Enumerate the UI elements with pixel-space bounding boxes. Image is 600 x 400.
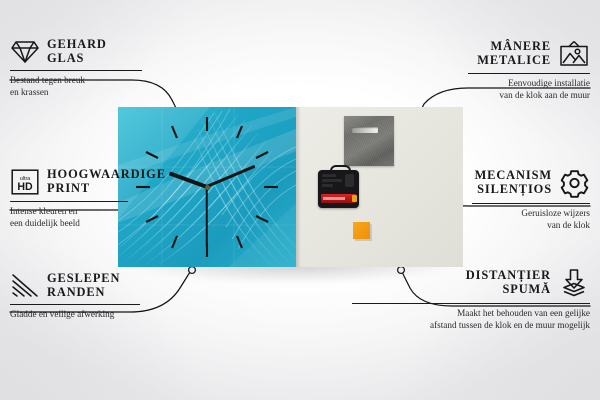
feature-desc-line2: en krassen [10, 87, 195, 98]
feature-desc-line2: van de klok [390, 220, 590, 231]
feature-desc-line2: een duidelijk beeld [10, 218, 210, 229]
feature-desc-line2: van de klok aan de muur [390, 90, 590, 101]
battery-label [323, 197, 345, 200]
feature-header: GEHARD GLAS [10, 38, 195, 65]
mechanism-dial [345, 174, 354, 187]
feature-title-line2: SILENȚIOS [477, 183, 552, 197]
metal-grain [344, 116, 394, 166]
feature-header: GESLEPEN RANDEN [10, 272, 210, 299]
feature-title-line1: MECANISM [475, 169, 552, 183]
wall-mount-picture-icon [558, 40, 590, 68]
feature-title-line1: HOOGWAARDIGE [47, 168, 166, 182]
feature-title: DISTANȚIER SPUMĂ [466, 269, 551, 296]
infographic-canvas: GEHARD GLAS Bestand tegen breuk en krass… [0, 0, 600, 400]
feature-title-line2: SPUMĂ [502, 283, 551, 297]
battery [321, 194, 356, 203]
feature-title: MÂNERE METALICE [477, 40, 551, 67]
feature-desc-line2: afstand tussen de klok en de muur mogeli… [330, 320, 590, 331]
metal-hanger-plate [344, 116, 394, 166]
feature-title: GESLEPEN RANDEN [47, 272, 120, 299]
ultra-hd-icon: ultra HD [10, 168, 40, 196]
feature-gehard-glas: GEHARD GLAS Bestand tegen breuk en krass… [10, 38, 195, 98]
feature-distantier-spuma: DISTANȚIER SPUMĂ Maakt het behouden van … [330, 268, 590, 331]
feature-desc-line1: Eenvoudige installatie [390, 78, 590, 89]
mechanism-slot [322, 179, 342, 182]
feature-title: MECANISM SILENȚIOS [475, 169, 552, 196]
feature-title: GEHARD GLAS [47, 38, 107, 65]
feature-title-line2: PRINT [47, 182, 166, 196]
feature-manere-metalice: MÂNERE METALICE Eenvoudige installatie v… [390, 40, 590, 101]
clock-mechanism [318, 165, 359, 208]
feature-title-line2: METALICE [477, 54, 551, 68]
hanger-keyhole-slot [352, 127, 378, 133]
feature-title-line1: GEHARD [47, 38, 107, 52]
feature-rule [10, 304, 140, 305]
diamond-icon [10, 38, 40, 65]
gear-icon [559, 168, 590, 198]
foam-spacer-arrow-icon [558, 268, 590, 298]
feature-title-line1: MÂNERE [491, 40, 551, 54]
feature-desc-line1: Gladde en veilige afwerking [10, 309, 210, 320]
feature-rule [10, 201, 128, 202]
battery-terminal [352, 195, 357, 202]
feature-header: ultra HD HOOGWAARDIGE PRINT [10, 168, 210, 196]
feature-title-line1: GESLEPEN [47, 272, 120, 286]
feature-rule [352, 303, 590, 304]
feature-header: MÂNERE METALICE [390, 40, 590, 68]
foam-spacer [353, 222, 370, 239]
feature-rule [468, 73, 590, 74]
feature-desc-line1: Intense kleuren en [10, 206, 210, 217]
feature-geslepen-randen: GESLEPEN RANDEN Gladde en veilige afwerk… [10, 272, 210, 321]
mechanism-slot [322, 184, 333, 187]
beveled-edge-icon [10, 272, 40, 299]
ultra-hd-icon-main-label: HD [17, 181, 33, 193]
feature-header: MECANISM SILENȚIOS [390, 168, 590, 198]
feature-header: DISTANȚIER SPUMĂ [330, 268, 590, 298]
feature-desc-line1: Maakt het behouden van een gelijke [330, 308, 590, 319]
feature-desc-line1: Geruisloze wijzers [390, 208, 590, 219]
mechanism-body [318, 170, 359, 208]
feature-desc-line1: Bestand tegen breuk [10, 75, 195, 86]
feature-mecanism-silentios: MECANISM SILENȚIOS Geruisloze wijzers va… [390, 168, 590, 231]
feature-rule [10, 70, 142, 71]
feature-rule [472, 203, 590, 204]
feature-title: HOOGWAARDIGE PRINT [47, 168, 166, 195]
feature-hoogwaardige-print: ultra HD HOOGWAARDIGE PRINT Intense kleu… [10, 168, 210, 229]
feature-title-line1: DISTANȚIER [466, 269, 551, 283]
feature-title-line2: RANDEN [47, 286, 120, 300]
mechanism-slot [322, 174, 336, 177]
feature-title-line2: GLAS [47, 52, 107, 66]
